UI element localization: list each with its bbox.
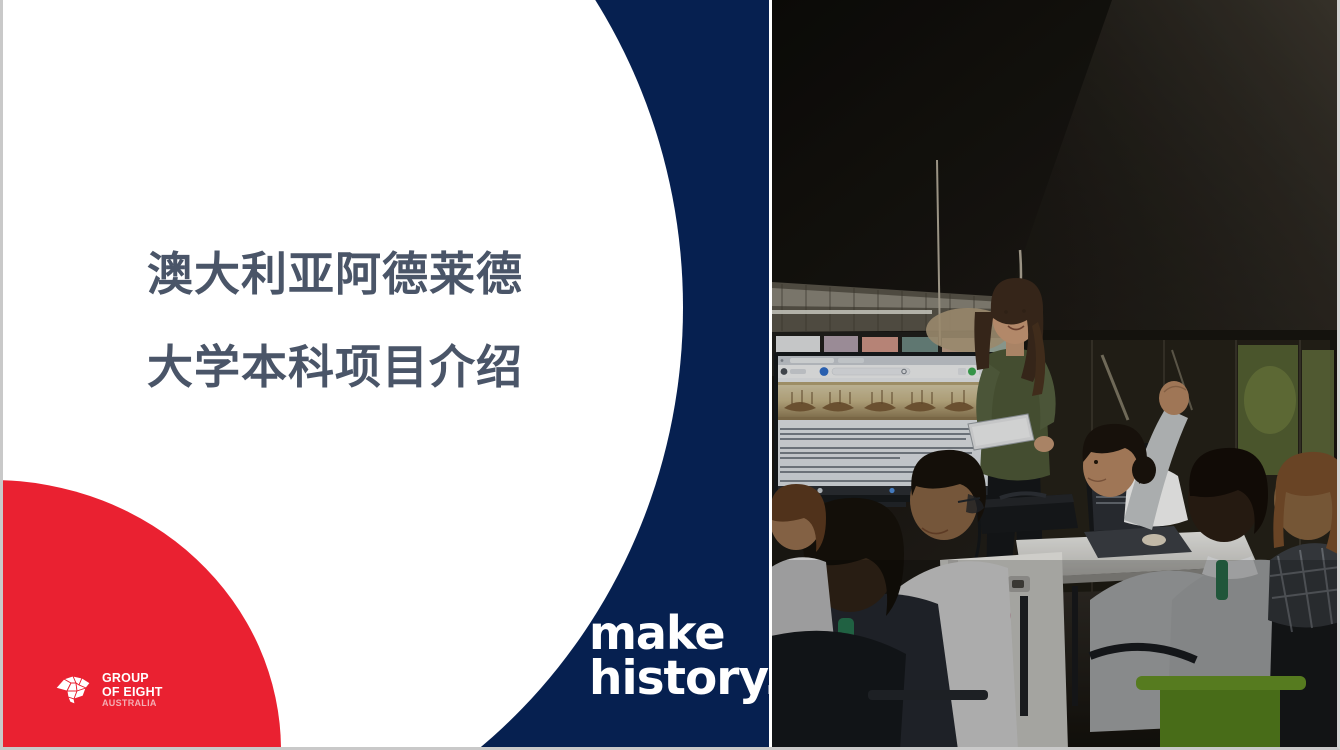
- brand-tagline: make history.: [589, 610, 769, 702]
- brand-tagline-line-1: make: [589, 610, 769, 656]
- go8-line-1: GROUP: [102, 672, 163, 685]
- brand-tagline-line-2: history.: [589, 656, 769, 702]
- australia-map-icon: [55, 674, 95, 706]
- title-line-1: 澳大利亚阿德莱德: [147, 228, 617, 321]
- left-edge-notch: [3, 182, 6, 191]
- group-of-eight-logo: GROUP OF EIGHT AUSTRALIA: [55, 672, 163, 708]
- go8-line-3: AUSTRALIA: [102, 699, 163, 708]
- go8-line-2: OF EIGHT: [102, 686, 163, 699]
- classroom-photo: [772, 0, 1337, 750]
- left-design-panel: 澳大利亚阿德莱德 大学本科项目介绍 make history.: [3, 0, 769, 750]
- group-of-eight-wordmark: GROUP OF EIGHT AUSTRALIA: [102, 672, 163, 708]
- title-line-2: 大学本科项目介绍: [147, 321, 617, 414]
- presentation-slide: 澳大利亚阿德莱德 大学本科项目介绍 make history.: [0, 0, 1340, 750]
- page-title: 澳大利亚阿德莱德 大学本科项目介绍: [147, 228, 617, 414]
